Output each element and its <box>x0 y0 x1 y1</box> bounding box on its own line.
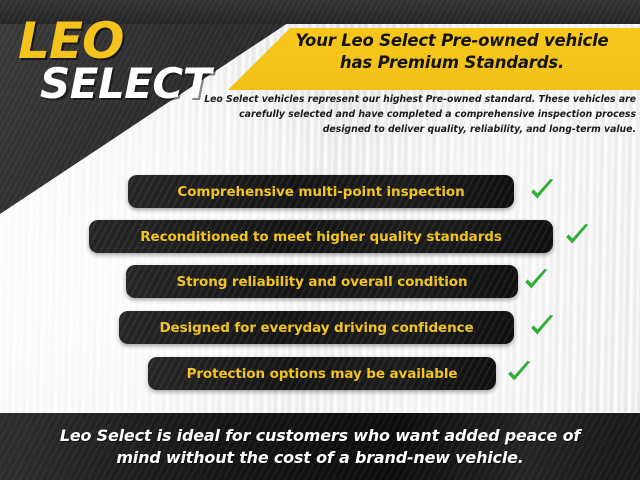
footer-text: Leo Select is ideal for customers who wa… <box>30 425 610 469</box>
feature-pill[interactable]: Protection options may be available <box>148 357 496 390</box>
feature-row[interactable]: Strong reliability and overall condition <box>126 265 518 298</box>
feature-pill[interactable]: Strong reliability and overall condition <box>126 265 518 298</box>
feature-row[interactable]: Comprehensive multi-point inspection <box>128 175 514 208</box>
dark-top-strip <box>0 0 640 24</box>
footer-line-1: Leo Select is ideal for customers who wa… <box>30 425 610 447</box>
check-icon <box>521 266 551 296</box>
check-icon <box>562 221 592 251</box>
feature-row[interactable]: Reconditioned to meet higher quality sta… <box>89 220 553 253</box>
feature-label: Designed for everyday driving confidence <box>159 320 473 336</box>
feature-pill[interactable]: Designed for everyday driving confidence <box>119 311 514 344</box>
footer-line-2: mind without the cost of a brand-new veh… <box>30 447 610 469</box>
feature-row[interactable]: Designed for everyday driving confidence <box>119 311 514 344</box>
headline-line-1: Your Leo Select Pre-owned vehicle <box>270 30 634 52</box>
headline-line-2: has Premium Standards. <box>270 52 634 74</box>
leo-select-poster: LEO SELECT Your Leo Select Pre-owned veh… <box>0 0 640 480</box>
feature-label: Strong reliability and overall condition <box>177 274 468 290</box>
feature-row[interactable]: Protection options may be available <box>148 357 496 390</box>
check-icon <box>527 312 557 342</box>
feature-label: Reconditioned to meet higher quality sta… <box>140 229 502 245</box>
check-icon <box>504 358 534 388</box>
feature-pill[interactable]: Reconditioned to meet higher quality sta… <box>89 220 553 253</box>
feature-pill[interactable]: Comprehensive multi-point inspection <box>128 175 514 208</box>
feature-label: Protection options may be available <box>187 366 458 382</box>
headline: Your Leo Select Pre-owned vehicle has Pr… <box>270 30 634 74</box>
feature-label: Comprehensive multi-point inspection <box>177 184 464 200</box>
intro-paragraph: Leo Select vehicles represent our highes… <box>196 92 636 137</box>
check-icon <box>527 176 557 206</box>
footer-banner: Leo Select is ideal for customers who wa… <box>0 413 640 480</box>
